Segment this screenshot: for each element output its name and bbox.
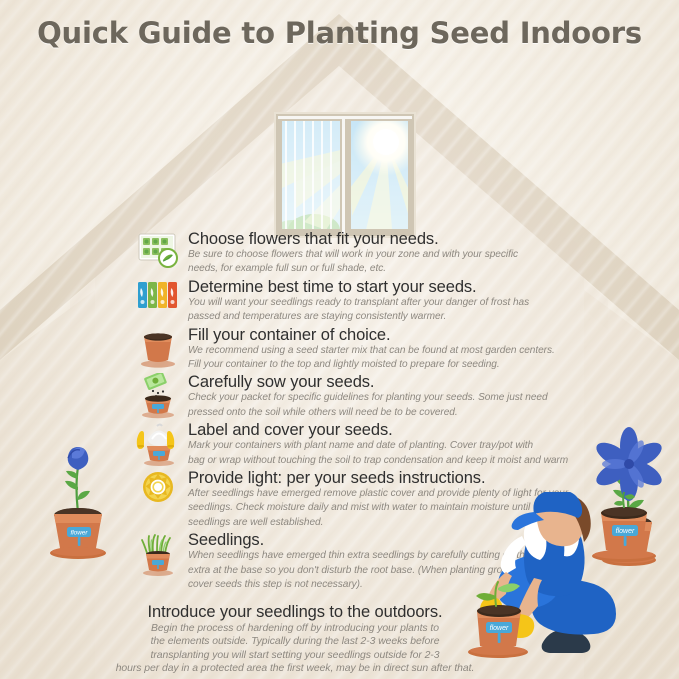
step-body-line: We recommend using a seed starter mix th… [188,345,584,357]
step-body-line: Fill your container to the top and light… [188,359,584,371]
step-body-line: You will want your seedlings ready to tr… [188,297,584,309]
step-body-line: Check your packet for specific guideline… [188,392,584,404]
step-title: Provide light: per your seeds instructio… [188,469,584,488]
step-body-line: passed and temperatures are staying cons… [188,311,584,323]
svg-text:flower: flower [616,528,635,535]
step-body-line: Mark your containers with plant name and… [188,440,584,452]
step-item: Choose flowers that fit your needs. Be s… [136,230,584,276]
outro-body-line: the elements outside. Typically during t… [60,635,530,648]
step-body-line: needs, for example full sun or full shad… [188,263,584,275]
outro-body-line: transplanting you will start setting you… [60,649,530,662]
step-item: Determine best time to start your seeds.… [136,278,584,324]
step-title: Label and cover your seeds. [188,421,584,440]
sun-light-icon [136,469,182,515]
gloves-covered-pot-icon [136,421,182,467]
sunlit-window-illustration [274,112,416,238]
four-seasons-calendar-icon [136,278,182,324]
step-body-line: Be sure to choose flowers that will work… [188,249,584,261]
blue-bud-flower-pot: flower [36,412,120,562]
outro-title: Introduce your seedlings to the outdoors… [60,602,530,622]
filled-pot-icon [136,326,182,372]
step-title: Fill your container of choice. [188,326,584,345]
step-title: Choose flowers that fit your needs. [188,230,584,249]
outro-body-line: hours per day in a protected area the fi… [60,662,530,675]
step-title: Carefully sow your seeds. [188,373,584,392]
seed-packet-sowing-icon [136,373,182,419]
step-body-line: pressed onto the soil while others will … [188,407,584,419]
outro-body-line: Begin the process of hardening off by in… [60,622,530,635]
page-title: Quick Guide to Planting Seed Indoors [0,16,679,50]
outro-block: Introduce your seedlings to the outdoors… [60,602,530,676]
seed-catalog-icon [136,230,182,276]
step-title: Determine best time to start your seeds. [188,278,584,297]
svg-text:flower: flower [70,529,88,536]
step-item: Label and cover your seeds. Mark your co… [136,421,584,467]
seedlings-pot-icon [136,531,182,577]
step-body-line: bag or wrap without touching the soil to… [188,455,584,467]
step-item: Carefully sow your seeds. Check your pac… [136,373,584,419]
step-item: Fill your container of choice. We recomm… [136,326,584,372]
infographic-poster: Quick Guide to Planting Seed Indoors [0,0,679,679]
